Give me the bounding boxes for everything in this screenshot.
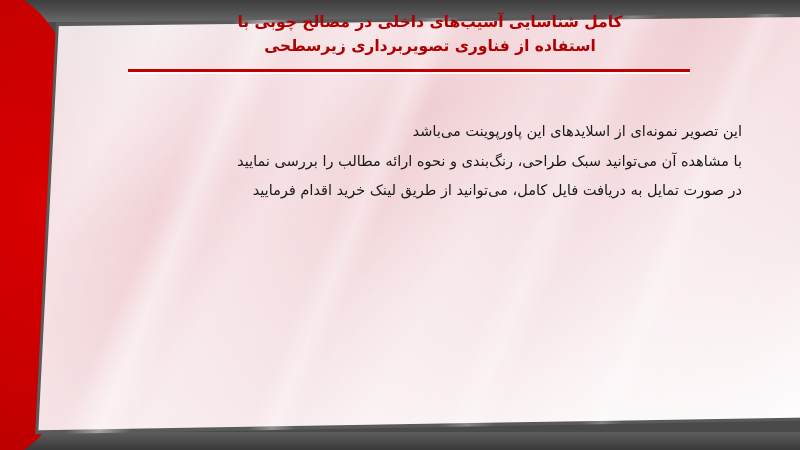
slide-text-content: کامل شناسایی آسیب‌های داخلی در مصالح چوب… [0,0,800,450]
presentation-slide: کامل شناسایی آسیب‌های داخلی در مصالح چوب… [0,0,800,450]
body-line-2: با مشاهده آن می‌توانید سبک طراحی، رنگ‌بن… [120,148,742,178]
title-line-2: استفاده از فناوری تصویربرداری زیرسطحی [130,34,730,58]
body-line-1: این تصویر نمونه‌ای از اسلایدهای این پاور… [120,118,742,148]
slide-title: کامل شناسایی آسیب‌های داخلی در مصالح چوب… [130,10,730,58]
body-line-3: در صورت تمایل به دریافت فایل کامل، می‌تو… [120,177,742,207]
title-line-1: کامل شناسایی آسیب‌های داخلی در مصالح چوب… [130,10,730,34]
title-underline-rule [128,69,690,72]
slide-body: این تصویر نمونه‌ای از اسلایدهای این پاور… [120,118,742,207]
